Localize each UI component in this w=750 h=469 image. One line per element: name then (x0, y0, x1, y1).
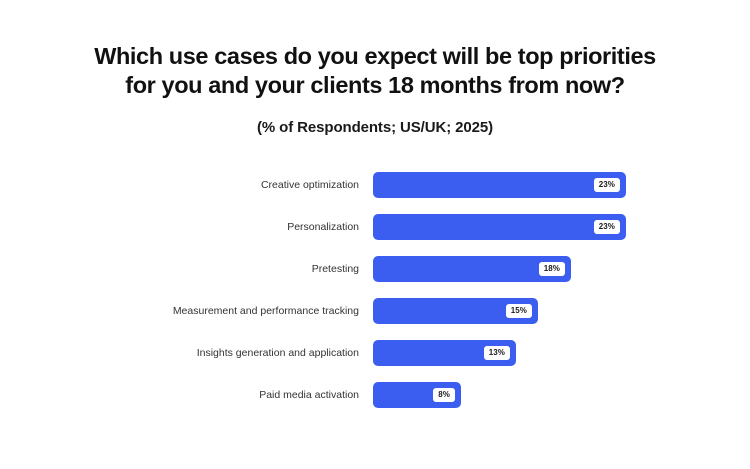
category-label: Paid media activation (0, 389, 373, 402)
bar-track: 8% (373, 382, 750, 408)
bar-value-label: 23% (594, 178, 620, 192)
bar-value-label: 23% (594, 220, 620, 234)
chart-title: Which use cases do you expect will be to… (75, 42, 675, 100)
category-label: Measurement and performance tracking (0, 305, 373, 318)
category-label: Creative optimization (0, 179, 373, 192)
bar-row: Paid media activation 8% (0, 382, 750, 408)
category-label: Insights generation and application (0, 347, 373, 360)
category-label: Pretesting (0, 263, 373, 276)
bar-row: Creative optimization 23% (0, 172, 750, 198)
bar-measurement-and-performance-tracking[interactable]: 15% (373, 298, 538, 324)
bar-value-label: 15% (506, 304, 532, 318)
bar-track: 23% (373, 172, 750, 198)
bar-track: 23% (373, 214, 750, 240)
category-label: Personalization (0, 221, 373, 234)
bar-track: 15% (373, 298, 750, 324)
bar-creative-optimization[interactable]: 23% (373, 172, 626, 198)
chart-header: Which use cases do you expect will be to… (0, 0, 750, 136)
chart-plot-area: Creative optimization 23% Personalizatio… (0, 172, 750, 424)
bar-paid-media-activation[interactable]: 8% (373, 382, 461, 408)
bar-chart-figure: Which use cases do you expect will be to… (0, 0, 750, 469)
bar-track: 13% (373, 340, 750, 366)
chart-title-line-1: Which use cases do you expect will be to… (75, 42, 675, 71)
bar-row: Measurement and performance tracking 15% (0, 298, 750, 324)
bar-value-label: 8% (433, 388, 455, 402)
chart-subtitle: (% of Respondents; US/UK; 2025) (0, 119, 750, 136)
bar-track: 18% (373, 256, 750, 282)
bar-row: Personalization 23% (0, 214, 750, 240)
bar-row: Pretesting 18% (0, 256, 750, 282)
bar-insights-generation-and-application[interactable]: 13% (373, 340, 516, 366)
bar-pretesting[interactable]: 18% (373, 256, 571, 282)
bar-value-label: 13% (484, 346, 510, 360)
bar-personalization[interactable]: 23% (373, 214, 626, 240)
chart-title-line-2: for you and your clients 18 months from … (75, 71, 675, 100)
bar-value-label: 18% (539, 262, 565, 276)
bar-row: Insights generation and application 13% (0, 340, 750, 366)
